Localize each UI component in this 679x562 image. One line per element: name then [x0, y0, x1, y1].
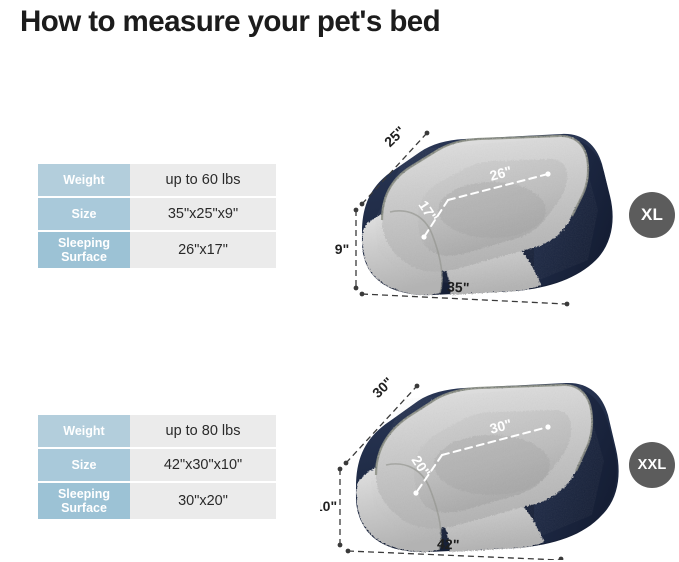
spec-label-size: Size [38, 198, 130, 230]
dimension-line-width [348, 551, 560, 560]
table-row: Weight up to 80 lbs [38, 415, 276, 447]
dimension-label-width: 42" [437, 535, 460, 552]
table-row: Sleeping Surface 30"x20" [38, 483, 276, 519]
spec-label-sleeping-surface-line1: Sleeping [58, 236, 110, 250]
size-badge-xxl: XXL [629, 442, 675, 488]
spec-label-sleeping-surface-line2: Surface [58, 250, 110, 264]
spec-value-size: 42"x30"x10" [130, 449, 276, 481]
spec-label-sleeping-surface-line2: Surface [58, 501, 110, 515]
spec-label-sleeping-surface: Sleeping Surface [38, 232, 130, 268]
spec-label-size: Size [38, 449, 130, 481]
spec-value-weight: up to 60 lbs [130, 164, 276, 196]
bed-body-graphic [360, 132, 620, 302]
spec-label-weight: Weight [38, 415, 130, 447]
spec-value-size: 35"x25"x9" [130, 198, 276, 230]
spec-label-sleeping-surface: Sleeping Surface [38, 483, 130, 519]
bed-body-graphic [354, 381, 620, 557]
bed-illustration-xl: 25" 9" 35" 26" 17" [320, 92, 620, 307]
spec-label-weight: Weight [38, 164, 130, 196]
spec-table-xl: Weight up to 60 lbs Size 35"x25"x9" Slee… [38, 164, 276, 268]
spec-value-sleeping-surface: 30"x20" [130, 483, 276, 519]
table-row: Size 35"x25"x9" [38, 198, 276, 230]
dimension-label-depth: 25" [381, 123, 408, 150]
spec-value-weight: up to 80 lbs [130, 415, 276, 447]
dimension-label-width: 35" [447, 278, 470, 295]
table-row: Sleeping Surface 26"x17" [38, 232, 276, 268]
table-row: Size 42"x30"x10" [38, 449, 276, 481]
dimension-line-width [362, 294, 566, 304]
bed-illustration-xxl: 30" 10" 42" 30" 20" [320, 345, 620, 560]
spec-label-sleeping-surface-line1: Sleeping [58, 487, 110, 501]
page-title: How to measure your pet's bed [20, 2, 658, 42]
dimension-label-depth: 30" [369, 374, 396, 401]
spec-table-xxl: Weight up to 80 lbs Size 42"x30"x10" Sle… [38, 415, 276, 519]
dimension-label-height: 9" [335, 241, 349, 257]
dimension-label-height: 10" [320, 498, 337, 514]
size-badge-xl: XL [629, 192, 675, 238]
table-row: Weight up to 60 lbs [38, 164, 276, 196]
spec-value-sleeping-surface: 26"x17" [130, 232, 276, 268]
